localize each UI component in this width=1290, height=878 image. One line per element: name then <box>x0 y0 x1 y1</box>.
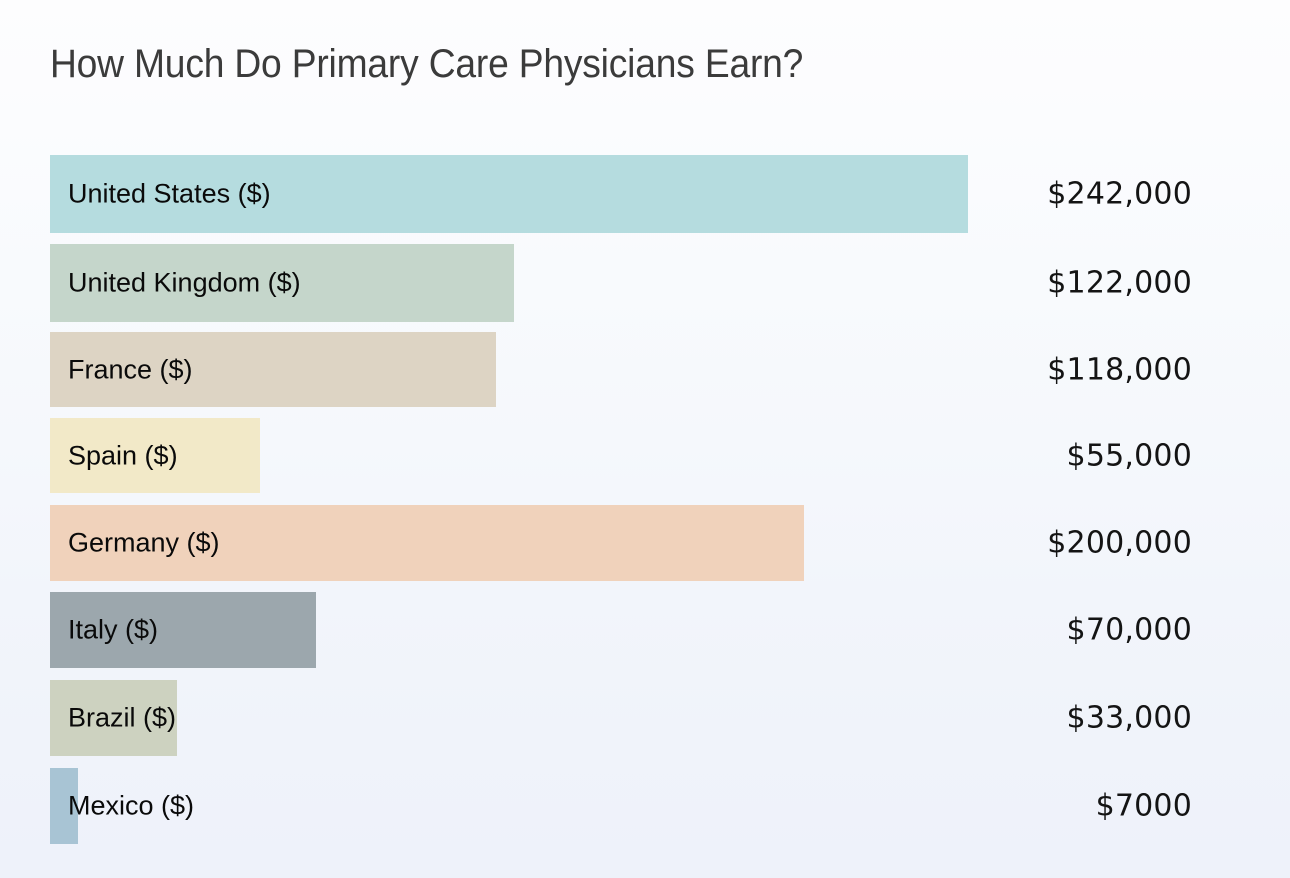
bar-category-label: Brazil ($) <box>68 703 176 734</box>
bar-row: Brazil ($)$33,000 <box>0 680 1290 756</box>
bar-category-label: Spain ($) <box>68 440 178 471</box>
bar-category-label: Italy ($) <box>68 615 158 646</box>
chart-title: How Much Do Primary Care Physicians Earn… <box>50 42 803 87</box>
bar-value-label: $118,000 <box>1047 352 1192 387</box>
bar-row: Italy ($)$70,000 <box>0 592 1290 668</box>
bar-row: France ($)$118,000 <box>0 332 1290 407</box>
bar-category-label: Germany ($) <box>68 528 220 559</box>
bar-row: United States ($)$242,000 <box>0 155 1290 233</box>
bar-row: Mexico ($)$7000 <box>0 768 1290 844</box>
bar-row: Spain ($)$55,000 <box>0 418 1290 493</box>
bar-category-label: United Kingdom ($) <box>68 268 301 299</box>
bar-chart-plot-area: United States ($)$242,000United Kingdom … <box>0 140 1290 860</box>
bar-category-label: United States ($) <box>68 179 271 210</box>
bar-value-label: $33,000 <box>1067 701 1192 736</box>
bar-value-label: $7000 <box>1096 789 1192 824</box>
bar-category-label: France ($) <box>68 354 193 385</box>
chart-container: How Much Do Primary Care Physicians Earn… <box>0 0 1290 878</box>
bar-row: United Kingdom ($)$122,000 <box>0 244 1290 322</box>
bar-category-label: Mexico ($) <box>68 791 194 822</box>
bar-row: Germany ($)$200,000 <box>0 505 1290 581</box>
bar-value-label: $70,000 <box>1067 613 1192 648</box>
bar-value-label: $242,000 <box>1047 177 1192 212</box>
bar-value-label: $55,000 <box>1067 438 1192 473</box>
bar-value-label: $200,000 <box>1047 526 1192 561</box>
bar-value-label: $122,000 <box>1047 266 1192 301</box>
